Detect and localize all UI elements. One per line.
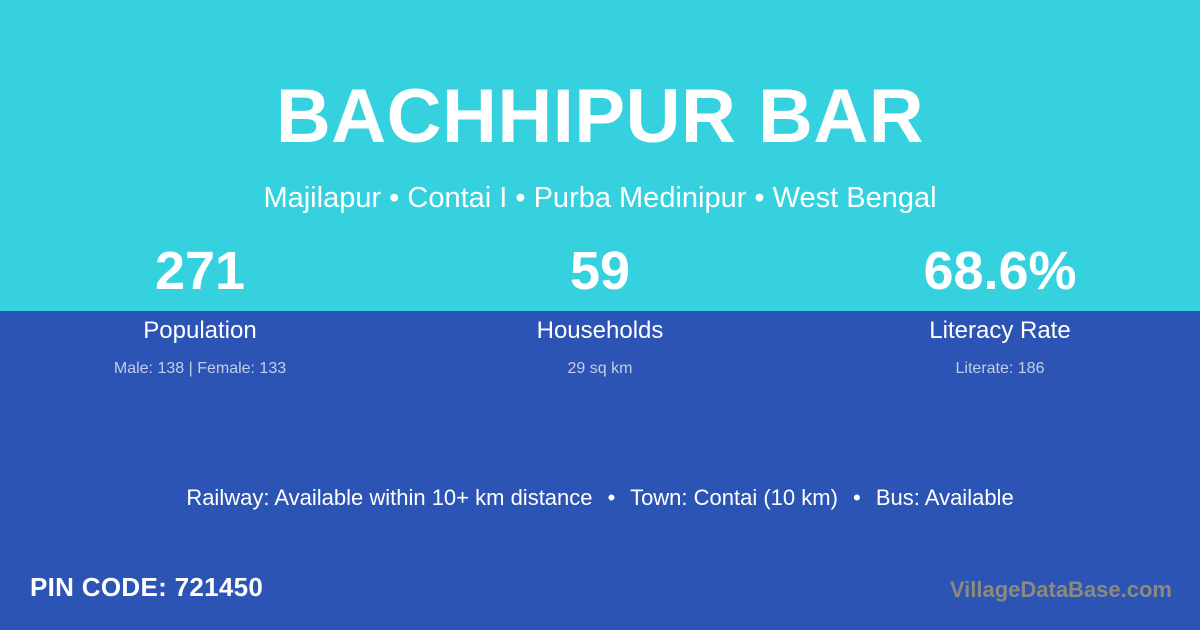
stat-value-population: 271 [0,244,400,302]
transport-town: Town: Contai (10 km) [630,485,838,510]
stat-literacy-rate: 68.6% Literacy Rate Literate: 186 [800,244,1200,384]
stat-sub-population: Male: 138 | Female: 133 [0,361,400,377]
stat-label-population: Population [0,319,400,343]
site-brand: VillageDataBase.com [950,579,1172,601]
stat-households: 59 Households 29 sq km [400,244,800,384]
stat-sub-literacy-rate: Literate: 186 [800,361,1200,377]
pin-code: PIN CODE: 721450 [30,574,263,600]
transport-bus: Bus: Available [876,485,1014,510]
village-info-card: BACHHIPUR BAR Majilapur • Contai I • Pur… [0,0,1200,630]
transport-railway: Railway: Available within 10+ km distanc… [186,485,592,510]
transport-info: Railway: Available within 10+ km distanc… [0,485,1200,511]
stat-label-households: Households [400,319,800,343]
stat-sub-households: 29 sq km [400,361,800,377]
stats-row: 271 Population Male: 138 | Female: 133 5… [0,244,1200,384]
footer-bar: PIN CODE: 721450 VillageDataBase.com [0,558,1200,630]
stat-population: 271 Population Male: 138 | Female: 133 [0,244,400,384]
location-breadcrumb: Majilapur • Contai I • Purba Medinipur •… [0,180,1200,218]
page-title: BACHHIPUR BAR [0,79,1200,155]
stat-value-households: 59 [400,244,800,302]
bullet-separator-icon: • [599,485,625,511]
bullet-separator-icon: • [844,485,870,511]
stat-label-literacy-rate: Literacy Rate [800,319,1200,343]
stat-value-literacy-rate: 68.6% [800,244,1200,302]
